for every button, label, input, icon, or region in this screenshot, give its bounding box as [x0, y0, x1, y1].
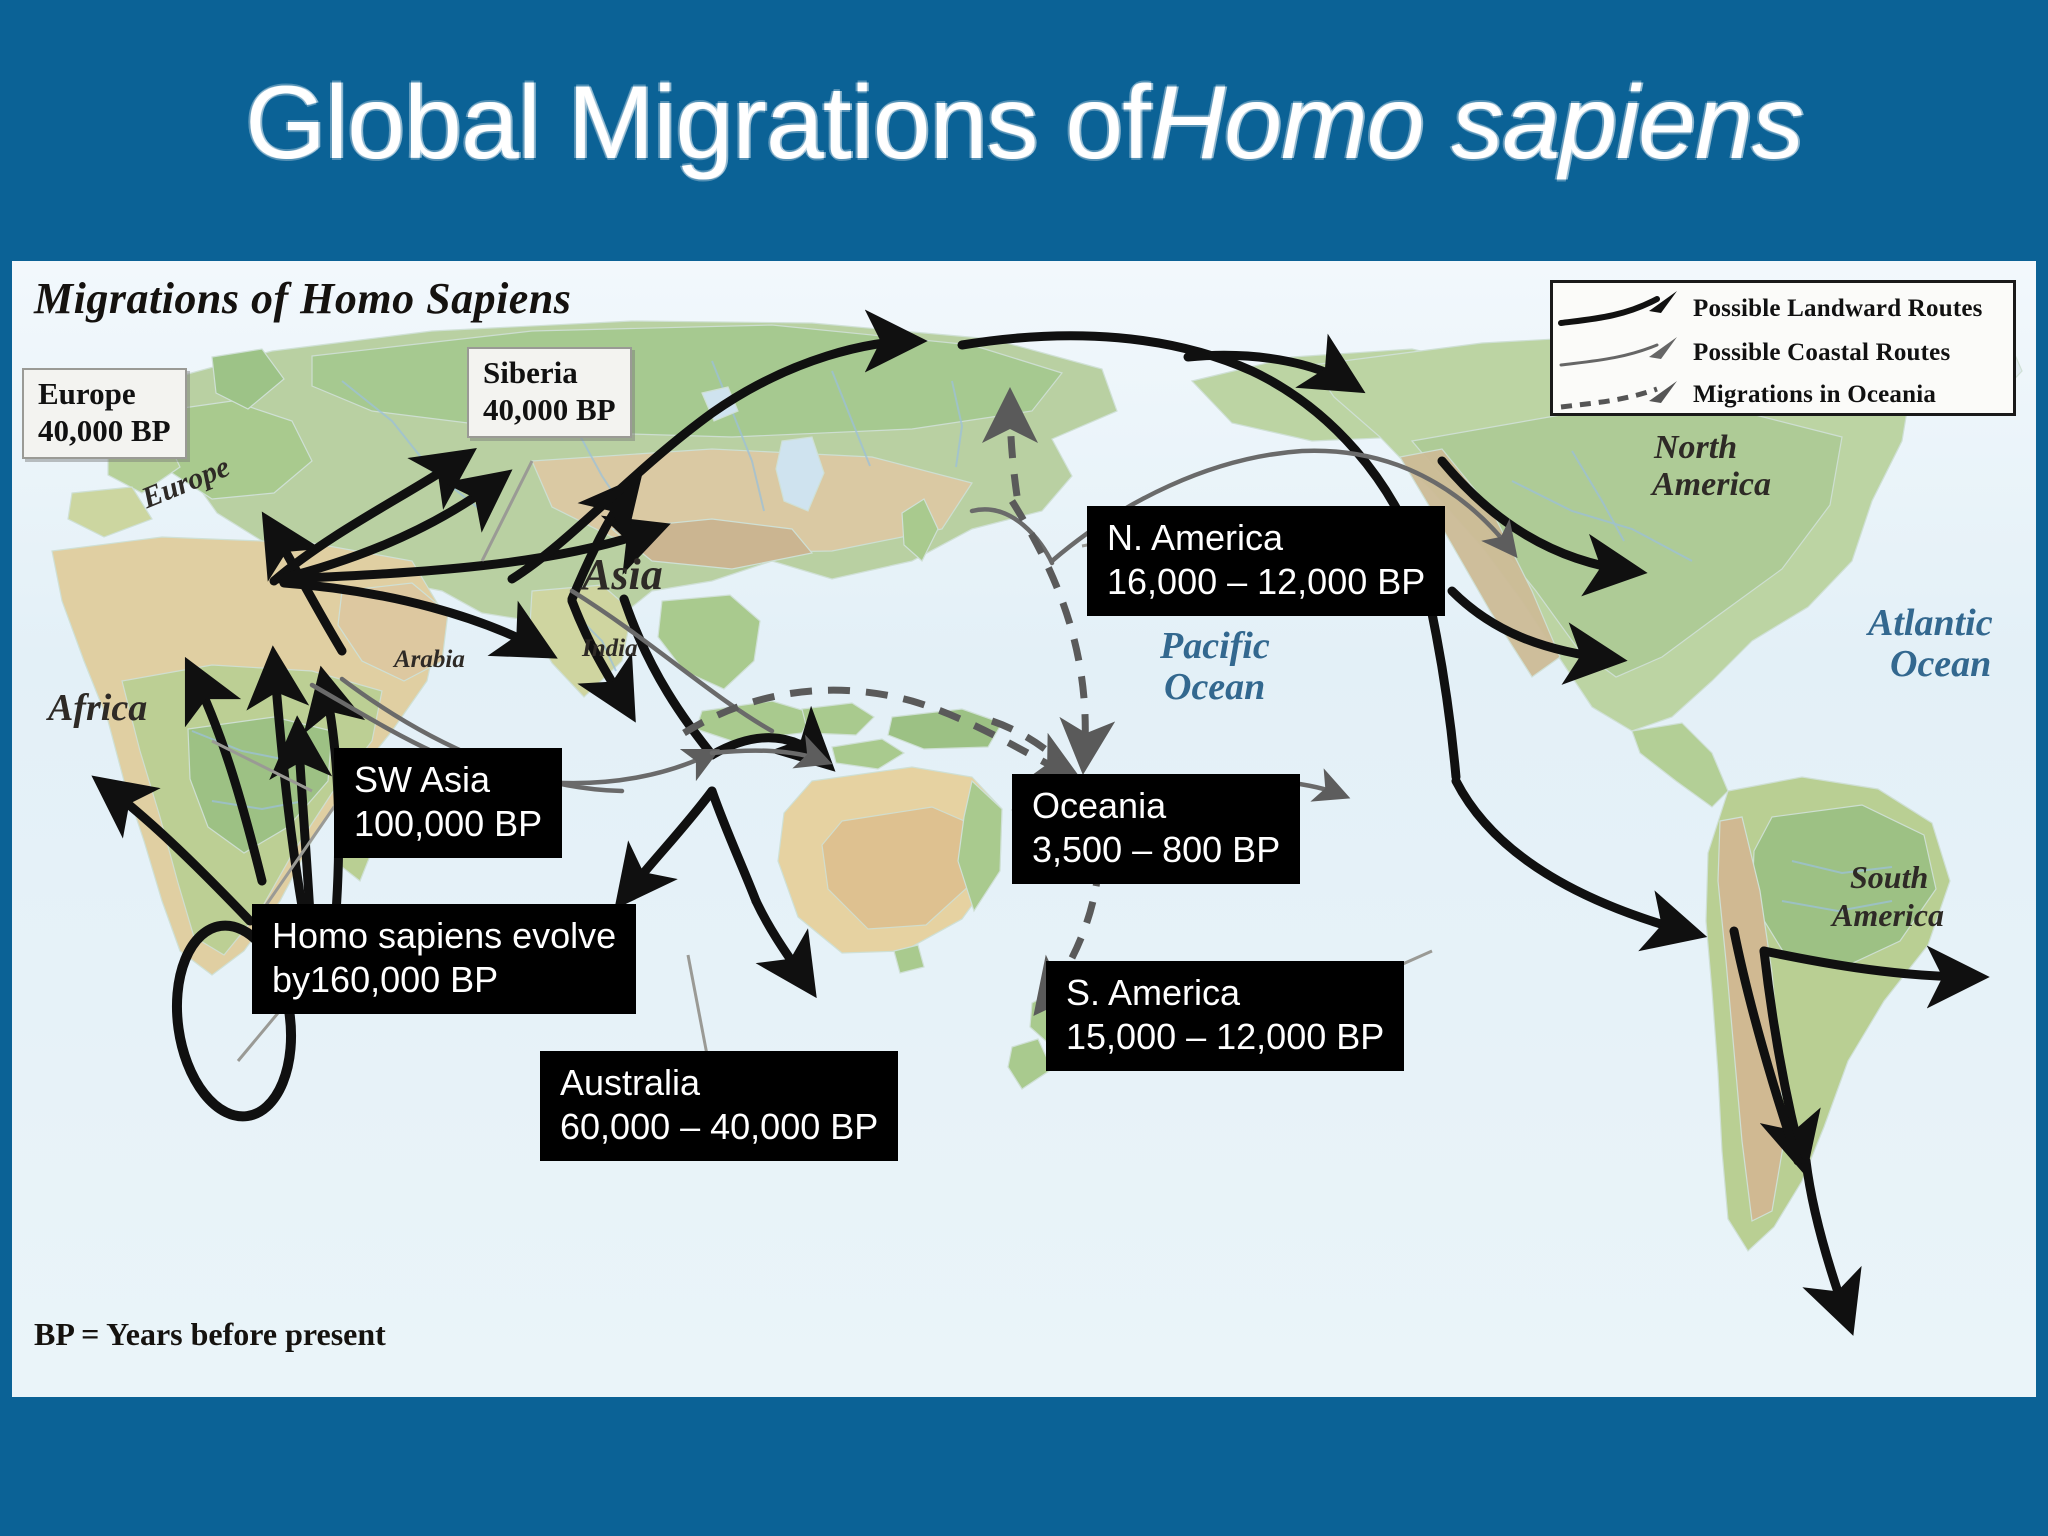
homo-sapiens-callout: Homo sapiens evolveby160,000 BP [252, 904, 636, 1014]
legend-label-landward: Possible Landward Routes [1693, 295, 1983, 323]
australia-callout-line1: Australia [560, 1061, 878, 1105]
siberia-date-callout-line2: 40,000 BP [483, 392, 616, 429]
europe-date-callout-line2: 40,000 BP [38, 413, 171, 450]
n-america-callout: N. America16,000 – 12,000 BP [1087, 506, 1445, 616]
migration-map: Migrations of Homo Sapiens BP = Years be… [12, 261, 2036, 1397]
siberia-date-callout-line1: Siberia [483, 355, 616, 392]
legend-label-oceania: Migrations in Oceania [1693, 381, 1936, 409]
oceania-callout-line2: 3,500 – 800 BP [1032, 828, 1280, 872]
oceania-callout-line1: Oceania [1032, 784, 1280, 828]
australia-callout: Australia60,000 – 40,000 BP [540, 1051, 898, 1161]
oceania-route-icon [1553, 375, 1693, 415]
siberia-date-callout: Siberia40,000 BP [467, 347, 632, 438]
europe-date-callout-line1: Europe [38, 376, 171, 413]
homo-sapiens-callout-line1: Homo sapiens evolve [272, 914, 616, 958]
page-title-plain: Global Migrations of [245, 64, 1150, 183]
s-america-callout-line2: 15,000 – 12,000 BP [1066, 1015, 1384, 1059]
europe-date-callout: Europe40,000 BP [22, 368, 187, 459]
legend-label-coastal: Possible Coastal Routes [1693, 339, 1950, 367]
legend-row-landward: Possible Landward Routes [1553, 287, 2019, 331]
n-america-callout-line1: N. America [1107, 516, 1425, 560]
legend-row-coastal: Possible Coastal Routes [1553, 331, 2019, 375]
coastal-route-icon [1553, 333, 1693, 373]
map-legend: Possible Landward Routes Possible Coasta… [1550, 280, 2016, 416]
australia-callout-line2: 60,000 – 40,000 BP [560, 1105, 878, 1149]
homo-sapiens-callout-line2: by160,000 BP [272, 958, 616, 1002]
oceania-callout: Oceania3,500 – 800 BP [1012, 774, 1300, 884]
legend-row-oceania: Migrations in Oceania [1553, 373, 2019, 417]
page-title-italic: Homo sapiens [1150, 64, 1803, 183]
sw-asia-callout: SW Asia100,000 BP [334, 748, 562, 858]
landward-route-icon [1553, 289, 1693, 329]
page-title: Global Migrations of Homo sapiens [0, 0, 2048, 246]
sw-asia-callout-line1: SW Asia [354, 758, 542, 802]
n-america-callout-line2: 16,000 – 12,000 BP [1107, 560, 1425, 604]
s-america-callout: S. America15,000 – 12,000 BP [1046, 961, 1404, 1071]
s-america-callout-line1: S. America [1066, 971, 1384, 1015]
sw-asia-callout-line2: 100,000 BP [354, 802, 542, 846]
